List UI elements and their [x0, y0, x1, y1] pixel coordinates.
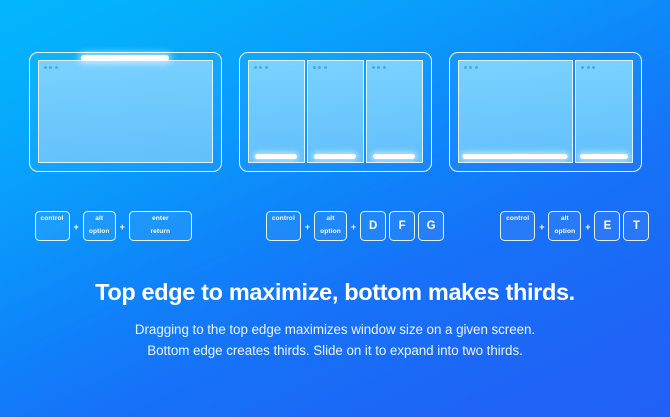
key-control-label: control: [272, 215, 295, 223]
description-line-1: Dragging to the top edge maximizes windo…: [0, 320, 670, 341]
dot: [44, 66, 47, 69]
illustration-row: [0, 52, 670, 174]
dot: [377, 66, 380, 69]
description-line-2: Bottom edge creates thirds. Slide on it …: [0, 341, 670, 362]
dot: [581, 66, 584, 69]
dot: [324, 66, 327, 69]
key-alt-label: alt: [327, 215, 335, 223]
bottom-edge-indicator-bar: [463, 154, 568, 159]
dot: [592, 66, 595, 69]
traffic-lights-icon: [372, 66, 387, 69]
illustration-two-thirds: [449, 52, 642, 172]
key-control[interactable]: control: [35, 211, 70, 241]
dot: [49, 66, 52, 69]
dot: [254, 66, 257, 69]
dot: [55, 66, 58, 69]
dot: [313, 66, 316, 69]
illustration-thirds: [239, 52, 432, 172]
dot: [265, 66, 268, 69]
page-title: Top edge to maximize, bottom makes third…: [0, 279, 670, 306]
key-option-label: option: [89, 228, 110, 236]
plus-separator: +: [119, 223, 126, 232]
window-third-3: [366, 60, 423, 163]
bottom-edge-indicator-bar: [373, 154, 415, 159]
key-d[interactable]: D: [360, 211, 386, 241]
key-return-label: return: [151, 228, 171, 236]
shortcut-group-thirds: control + alt option + D F G: [266, 205, 444, 247]
key-g[interactable]: G: [418, 211, 444, 241]
plus-separator: +: [73, 223, 80, 232]
key-e[interactable]: E: [594, 211, 620, 241]
key-enter-label: enter: [152, 215, 169, 223]
dot: [587, 66, 590, 69]
description-text: Dragging to the top edge maximizes windo…: [0, 320, 670, 362]
key-control-label: control: [506, 215, 529, 223]
dot: [464, 66, 467, 69]
dot: [383, 66, 386, 69]
key-control-label: control: [41, 215, 64, 223]
key-alt-option[interactable]: alt option: [548, 211, 581, 241]
key-alt-label: alt: [561, 215, 569, 223]
window-third-2: [307, 60, 364, 163]
traffic-lights-icon: [44, 66, 59, 69]
bottom-edge-indicator-bar: [255, 154, 297, 159]
plus-separator: +: [584, 223, 591, 232]
bottom-edge-indicator-bar: [580, 154, 628, 159]
key-alt-option[interactable]: alt option: [83, 211, 116, 241]
feature-slide: control + alt option + enter return cont…: [0, 0, 670, 417]
shortcut-group-maximize: control + alt option + enter return: [35, 205, 192, 247]
illustration-maximize: [29, 52, 222, 172]
plus-separator: +: [350, 223, 357, 232]
plus-separator: +: [538, 223, 545, 232]
dot: [475, 66, 478, 69]
window-third-1: [248, 60, 305, 163]
key-t[interactable]: T: [623, 211, 649, 241]
traffic-lights-icon: [464, 66, 479, 69]
traffic-lights-icon: [581, 66, 596, 69]
key-alt-option[interactable]: alt option: [314, 211, 347, 241]
window-full: [38, 60, 213, 163]
key-control[interactable]: control: [266, 211, 301, 241]
key-alt-label: alt: [95, 215, 103, 223]
window-two-thirds: [458, 60, 573, 163]
traffic-lights-icon: [313, 66, 328, 69]
traffic-lights-icon: [254, 66, 269, 69]
key-option-label: option: [554, 228, 575, 236]
plus-separator: +: [304, 223, 311, 232]
shortcut-group-two-thirds: control + alt option + E T: [500, 205, 649, 247]
bottom-edge-indicator-bar: [314, 154, 356, 159]
key-f[interactable]: F: [389, 211, 415, 241]
key-option-label: option: [320, 228, 341, 236]
dot: [469, 66, 472, 69]
window-one-third: [575, 60, 633, 163]
dot: [372, 66, 375, 69]
top-edge-indicator-bar: [81, 55, 169, 61]
shortcut-row: control + alt option + enter return cont…: [0, 205, 670, 247]
key-enter-return[interactable]: enter return: [129, 211, 192, 241]
dot: [318, 66, 321, 69]
key-control[interactable]: control: [500, 211, 535, 241]
dot: [259, 66, 262, 69]
